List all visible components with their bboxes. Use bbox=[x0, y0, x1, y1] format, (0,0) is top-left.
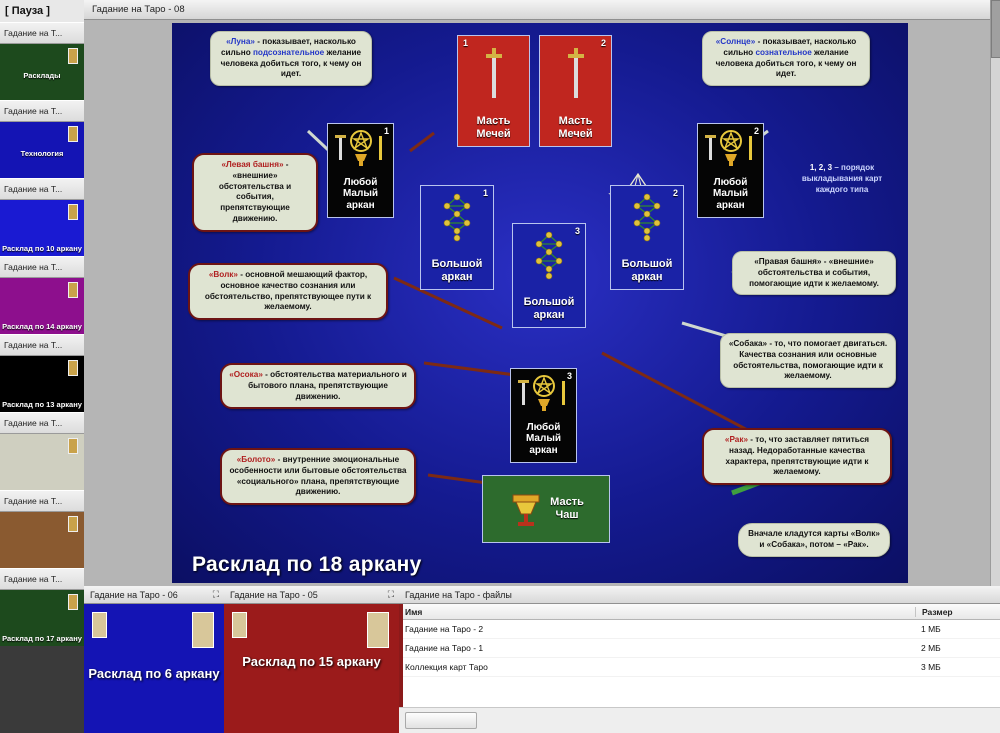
card-bolshoy-2-label: Большой аркан bbox=[611, 258, 683, 289]
card-bolshoy-3-label: Большой аркан bbox=[513, 296, 585, 327]
file-list-header: ИмяРазмер bbox=[399, 604, 1000, 620]
sidebar-item-thumb-label-3: Расклад по 14 аркану bbox=[0, 322, 84, 334]
card-mech-1-label: Масть Мечей bbox=[458, 115, 529, 146]
file-size: 3 МБ bbox=[915, 662, 1000, 672]
sidebar-item-caption-1: Гадание на Т... bbox=[0, 100, 84, 122]
sidebar-item-3[interactable]: Гадание на Т...Расклад по 14 аркану bbox=[0, 256, 84, 334]
callout-levaya-bashnya-keyword: «Левая башня» bbox=[221, 160, 283, 169]
sidebar-item-thumbnail-0[interactable]: Расклады bbox=[0, 44, 84, 100]
application-window: [ Пауза ] Гадание на Т...РаскладыГадание… bbox=[0, 0, 1000, 733]
slide-title: Расклад по 18 аркану bbox=[192, 553, 422, 577]
callout-volk-keyword: «Волк» bbox=[209, 270, 238, 279]
slide-viewer: Гадание на Таро - 08 bbox=[84, 0, 1000, 586]
card-mech-2-label: Масть Мечей bbox=[540, 115, 611, 146]
card-maly-2-label: Любой Малый аркан bbox=[698, 177, 763, 217]
bottom-panel-label-0: Расклад по 6 аркану bbox=[84, 666, 224, 681]
callout-solnce-keyword: «Солнце» bbox=[716, 37, 756, 46]
sidebar-item-6[interactable]: Гадание на Т... bbox=[0, 490, 84, 568]
callout-solnce-keyword2: сознательное bbox=[755, 48, 811, 57]
sidebar-item-thumbnail-4[interactable]: Расклад по 13 аркану bbox=[0, 356, 84, 412]
sidebar-item-4[interactable]: Гадание на Т...Расклад по 13 аркану bbox=[0, 334, 84, 412]
pause-label: [ Пауза ] bbox=[5, 5, 50, 17]
thumbnail-card-icon bbox=[68, 516, 78, 532]
bottom-panel-body-1: Расклад по 15 аркану bbox=[224, 604, 399, 733]
callout-osoka-keyword: «Осока» bbox=[229, 370, 263, 379]
file-panel-title: Гадание на Таро - файлы bbox=[405, 590, 512, 600]
sidebar-item-thumbnail-2[interactable]: Расклад по 10 аркану bbox=[0, 200, 84, 256]
card-maly-1[interactable]: 1 Любой Малый аркан bbox=[327, 123, 394, 218]
callout-boloto-keyword: «Болото» bbox=[237, 455, 276, 464]
sidebar-item-thumb-label-2: Расклад по 10 аркану bbox=[0, 244, 84, 256]
bottom-panel-title-1: Гадание на Таро - 05 bbox=[230, 590, 318, 600]
card-mech-2[interactable]: 2 Масть Мечей bbox=[539, 35, 612, 147]
file-panel[interactable]: Гадание на Таро - файлыИмяРазмерГадание … bbox=[399, 586, 1000, 733]
card-chash-label: Масть Чаш bbox=[550, 496, 584, 522]
tarot-card-thumb bbox=[192, 612, 214, 648]
bottom-panel-1[interactable]: Гадание на Таро - 05⛶Расклад по 15 аркан… bbox=[224, 586, 399, 733]
file-row[interactable]: Гадание на Таро - 12 МБ bbox=[399, 639, 1000, 658]
minor-arcana-suits-icon bbox=[703, 128, 759, 170]
sidebar-item-caption-6: Гадание на Т... bbox=[0, 490, 84, 512]
callout-volk[interactable]: «Волк» - основной мешающий фактор, основ… bbox=[188, 263, 388, 320]
sidebar-item-caption-text-0: Гадание на Т... bbox=[4, 28, 62, 38]
sidebar-item-thumbnail-6[interactable] bbox=[0, 512, 84, 568]
callout-luna-keyword2: подсознательное bbox=[253, 48, 324, 57]
callout-pravaya-bashnya[interactable]: «Правая башня» - «внешние» обстоятельств… bbox=[732, 251, 896, 295]
minor-arcana-suits-icon bbox=[516, 373, 572, 415]
card-maly-1-label: Любой Малый аркан bbox=[328, 177, 393, 217]
file-size: 1 МБ bbox=[915, 624, 1000, 634]
callout-solnce[interactable]: «Солнце» - показывает, насколько сильно … bbox=[702, 31, 870, 86]
sidebar-item-5[interactable]: Гадание на Т... bbox=[0, 412, 84, 490]
sidebar-item-caption-text-6: Гадание на Т... bbox=[4, 496, 62, 506]
file-size: 2 МБ bbox=[915, 643, 1000, 653]
slide-content: «Луна» - показывает, насколько сильно по… bbox=[172, 23, 908, 583]
callout-osoka[interactable]: «Осока» - обстоятельства материального и… bbox=[220, 363, 416, 409]
card-maly-3[interactable]: 3 Любой Малый аркан bbox=[510, 368, 577, 463]
bottom-panel-0[interactable]: Гадание на Таро - 06⛶Расклад по 6 аркану bbox=[84, 586, 224, 733]
minor-arcana-suits-icon bbox=[333, 128, 389, 170]
callout-sobaka-keyword: «Собака» bbox=[729, 339, 767, 348]
sidebar-item-thumb-label-7: Расклад по 17 аркану bbox=[0, 634, 84, 646]
sidebar-item-caption-text-3: Гадание на Т... bbox=[4, 262, 62, 272]
sidebar-item-caption-3: Гадание на Т... bbox=[0, 256, 84, 278]
viewer-titlebar[interactable]: Гадание на Таро - 08 bbox=[84, 0, 1000, 20]
sidebar-item-caption-text-4: Гадание на Т... bbox=[4, 340, 62, 350]
sidebar-item-thumbnail-7[interactable]: Расклад по 17 аркану bbox=[0, 590, 84, 646]
thumbnail-card-icon bbox=[68, 126, 78, 142]
bottom-panel-titlebar-1[interactable]: Гадание на Таро - 05⛶ bbox=[224, 586, 399, 604]
expand-icon[interactable]: ⛶ bbox=[213, 589, 218, 600]
callout-luna[interactable]: «Луна» - показывает, насколько сильно по… bbox=[210, 31, 372, 86]
tarot-card-thumb bbox=[92, 612, 107, 638]
file-list: ИмяРазмерГадание на Таро - 21 МБГадание … bbox=[399, 604, 1000, 733]
card-mech-2-number: 2 bbox=[601, 38, 606, 49]
file-name: Гадание на Таро - 2 bbox=[399, 624, 915, 634]
callout-rak-keyword: «Рак» bbox=[725, 435, 748, 444]
callout-luna-keyword: «Луна» bbox=[226, 37, 255, 46]
column-header-name[interactable]: Имя bbox=[399, 607, 915, 617]
order-note-numbers: 1, 2, 3 bbox=[810, 163, 832, 172]
sidebar-item-2[interactable]: Гадание на Т...Расклад по 10 аркану bbox=[0, 178, 84, 256]
sidebar-item-1[interactable]: Гадание на Т...Технология bbox=[0, 100, 84, 178]
file-panel-footer bbox=[399, 707, 1000, 733]
callout-sobaka[interactable]: «Собака» - то, что помогает двигаться. К… bbox=[720, 333, 896, 388]
tree-of-life-icon bbox=[529, 230, 569, 280]
card-bolshoy-1-label: Большой аркан bbox=[421, 258, 493, 289]
callout-poryadok-text: Вначале кладутся карты «Волк» и «Собака»… bbox=[748, 529, 880, 549]
expand-icon[interactable]: ⛶ bbox=[388, 589, 393, 600]
bottom-panel-body-0: Расклад по 6 аркану bbox=[84, 604, 224, 733]
card-bolshoy-1-number: 1 bbox=[483, 188, 488, 199]
slide-canvas: «Луна» - показывает, насколько сильно по… bbox=[84, 20, 1000, 586]
card-chash[interactable]: Масть Чаш bbox=[482, 475, 610, 543]
thumbnail-card-icon bbox=[68, 438, 78, 454]
sidebar-item-caption-2: Гадание на Т... bbox=[0, 178, 84, 200]
sidebar-item-caption-5: Гадание на Т... bbox=[0, 412, 84, 434]
callout-rak-text: - то, что заставляет пятиться назад. Нед… bbox=[726, 435, 870, 476]
thumbnail-card-icon bbox=[68, 204, 78, 220]
sidebar-item-thumb-label-1: Технология bbox=[0, 149, 84, 178]
file-panel-button[interactable] bbox=[405, 712, 477, 729]
sidebar-item-caption-7: Гадание на Т... bbox=[0, 568, 84, 590]
sidebar-item-thumb-label-4: Расклад по 13 аркану bbox=[0, 400, 84, 412]
tree-of-life-icon bbox=[627, 192, 667, 242]
sidebar-item-caption-text-1: Гадание на Т... bbox=[4, 106, 62, 116]
card-mech-1[interactable]: 1 Масть Мечей bbox=[457, 35, 530, 147]
sidebar-item-caption-text-5: Гадание на Т... bbox=[4, 418, 62, 428]
viewer-title: Гадание на Таро - 08 bbox=[92, 4, 185, 15]
cup-icon bbox=[508, 489, 544, 529]
thumbnail-card-icon bbox=[68, 594, 78, 610]
thumbnail-card-icon bbox=[68, 48, 78, 64]
thumbnail-card-icon bbox=[68, 360, 78, 376]
bottom-panel-strip: Гадание на Таро - 06⛶Расклад по 6 аркану… bbox=[84, 586, 1000, 733]
callout-rak[interactable]: «Рак» - то, что заставляет пятиться наза… bbox=[702, 428, 892, 485]
card-bolshoy-2-number: 2 bbox=[673, 188, 678, 199]
sidebar-item-caption-text-7: Гадание на Т... bbox=[4, 574, 62, 584]
file-row[interactable]: Коллекция карт Таро3 МБ bbox=[399, 658, 1000, 677]
sidebar-item-thumb-label-0: Расклады bbox=[0, 71, 84, 100]
slide-sidebar[interactable]: Гадание на Т...РаскладыГадание на Т...Те… bbox=[0, 22, 84, 733]
card-bolshoy-3-number: 3 bbox=[575, 226, 580, 237]
callout-pravaya-bashnya-keyword: «Правая башня» bbox=[754, 257, 821, 266]
tarot-card-thumb bbox=[367, 612, 389, 648]
callout-osoka-text: - обстоятельства материального и бытовог… bbox=[248, 370, 407, 401]
file-row[interactable]: Гадание на Таро - 21 МБ bbox=[399, 620, 1000, 639]
sidebar-item-thumbnail-5[interactable] bbox=[0, 434, 84, 490]
bottom-panel-title-0: Гадание на Таро - 06 bbox=[90, 590, 178, 600]
viewer-scrollbar[interactable] bbox=[990, 0, 1000, 586]
bottom-panel-titlebar-0[interactable]: Гадание на Таро - 06⛶ bbox=[84, 586, 224, 604]
card-bolshoy-2[interactable]: 2 Большой аркан bbox=[610, 185, 684, 290]
card-maly-2[interactable]: 2 Любой Малый аркан bbox=[697, 123, 764, 218]
card-bolshoy-3[interactable]: 3 Большой аркан bbox=[512, 223, 586, 328]
column-header-size[interactable]: Размер bbox=[915, 607, 1000, 617]
sidebar-item-caption-0: Гадание на Т... bbox=[0, 22, 84, 44]
sidebar-item-7[interactable]: Гадание на Т...Расклад по 17 аркану bbox=[0, 568, 84, 646]
tree-of-life-icon bbox=[437, 192, 477, 242]
sidebar-item-caption-text-2: Гадание на Т... bbox=[4, 184, 62, 194]
sidebar-item-thumbnail-1[interactable]: Технология bbox=[0, 122, 84, 178]
viewer-scrollbar-thumb[interactable] bbox=[991, 0, 1000, 58]
card-mech-1-number: 1 bbox=[463, 38, 468, 49]
callout-poryadok[interactable]: Вначале кладутся карты «Волк» и «Собака»… bbox=[738, 523, 890, 557]
card-bolshoy-1[interactable]: 1 Большой аркан bbox=[420, 185, 494, 290]
order-note: 1, 2, 3 – порядок выкладывания карт кажд… bbox=[786, 163, 898, 195]
card-maly-3-label: Любой Малый аркан bbox=[511, 422, 576, 462]
thumbnail-card-icon bbox=[68, 282, 78, 298]
sidebar-item-caption-4: Гадание на Т... bbox=[0, 334, 84, 356]
sidebar-item-0[interactable]: Гадание на Т...Расклады bbox=[0, 22, 84, 100]
callout-levaya-bashnya-text: - «внешние» обстоятельства и события, пр… bbox=[219, 160, 291, 223]
callout-levaya-bashnya[interactable]: «Левая башня» - «внешние» обстоятельства… bbox=[192, 153, 318, 232]
file-name: Гадание на Таро - 1 bbox=[399, 643, 915, 653]
file-panel-titlebar[interactable]: Гадание на Таро - файлы bbox=[399, 586, 1000, 604]
sidebar-item-thumbnail-3[interactable]: Расклад по 14 аркану bbox=[0, 278, 84, 334]
sword-icon bbox=[566, 46, 586, 104]
file-name: Коллекция карт Таро bbox=[399, 662, 915, 672]
sword-icon bbox=[484, 46, 504, 104]
callout-boloto[interactable]: «Болото» - внутренние эмоциональные особ… bbox=[220, 448, 416, 505]
tarot-card-thumb bbox=[232, 612, 247, 638]
pause-indicator[interactable]: [ Пауза ] bbox=[0, 0, 84, 22]
bottom-panel-label-1: Расклад по 15 аркану bbox=[224, 654, 399, 669]
